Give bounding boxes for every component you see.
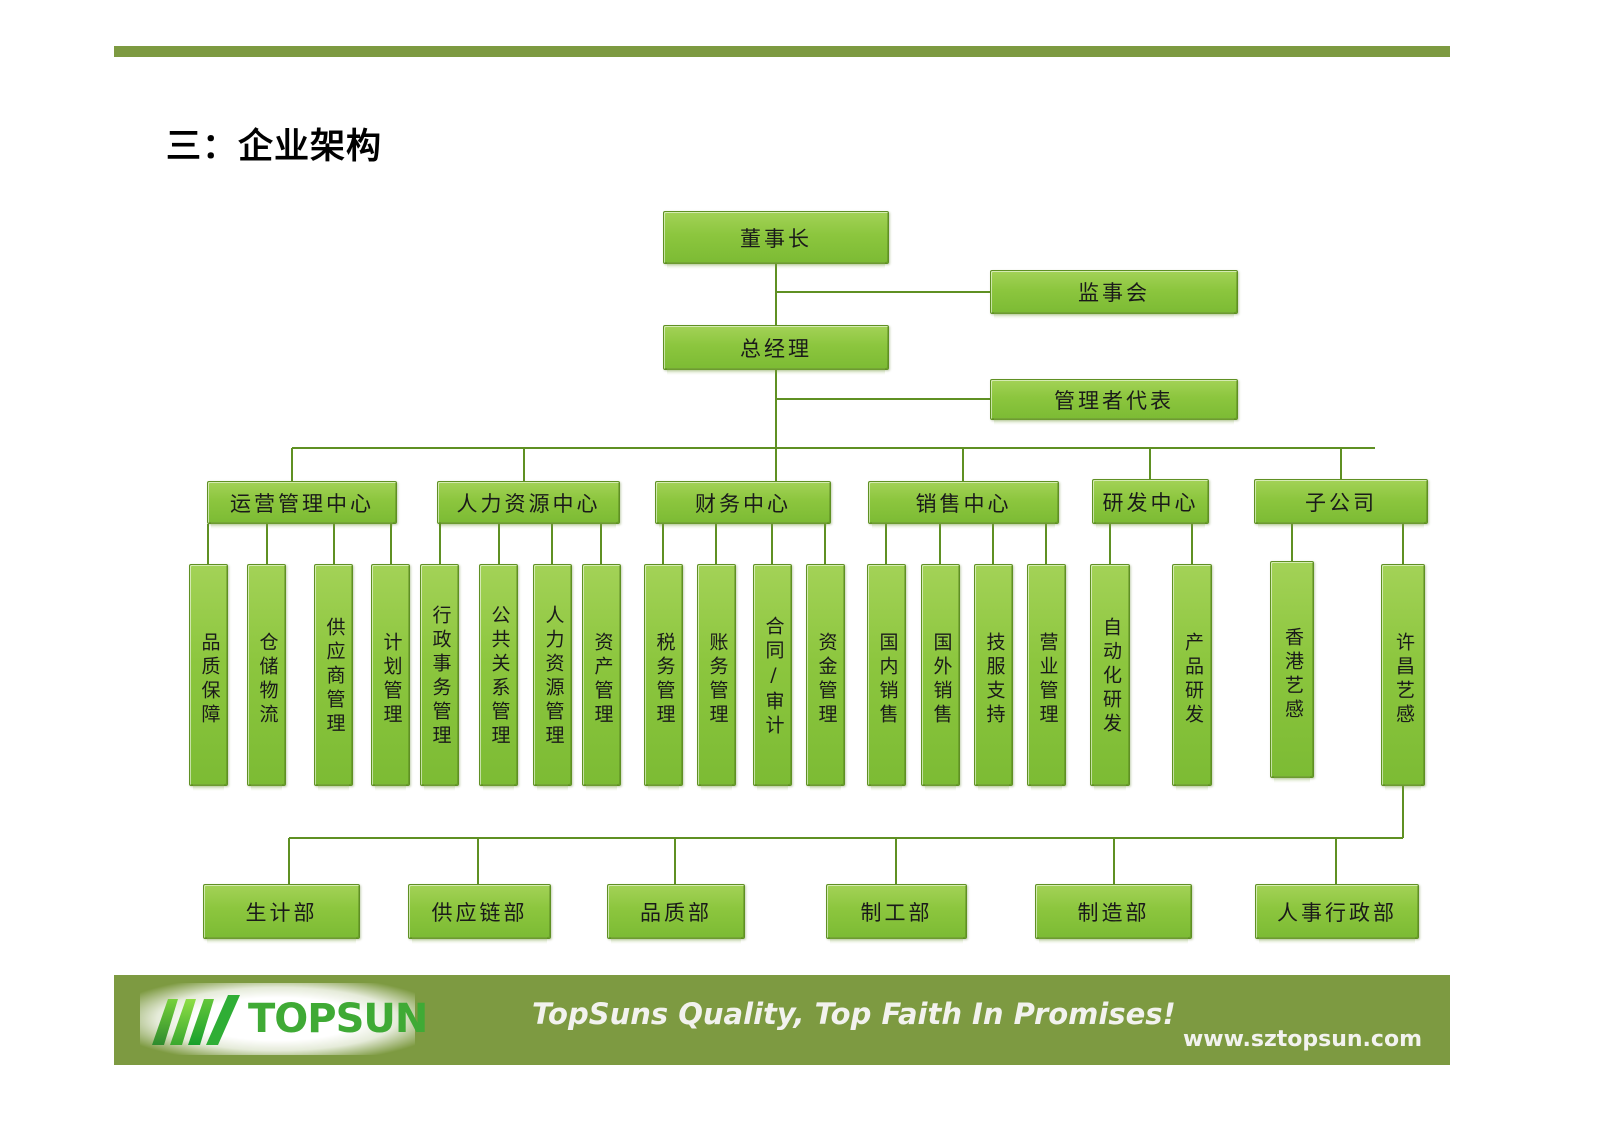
node-dept-technical-support[interactable]: 技服支持: [974, 564, 1013, 786]
node-dept-business-management[interactable]: 营业管理: [1027, 564, 1066, 786]
node-general-manager[interactable]: 总经理: [663, 325, 889, 370]
node-dept-quality-assurance[interactable]: 品质保障: [189, 564, 228, 786]
node-dept-accounting[interactable]: 账务管理: [697, 564, 736, 786]
node-subsidiary-hongkong[interactable]: 香港艺感: [1270, 561, 1314, 778]
footer-website[interactable]: www.sztopsun.com: [1183, 1027, 1422, 1052]
node-dept-contract-audit[interactable]: 合同/审计: [753, 564, 792, 786]
node-dept-funds-management[interactable]: 资金管理: [806, 564, 845, 786]
node-center-rd[interactable]: 研发中心: [1092, 479, 1209, 524]
node-dept-warehouse-logistics[interactable]: 仓储物流: [247, 564, 286, 786]
node-subdept-manufacturing-engineering[interactable]: 制工部: [826, 884, 967, 939]
node-dept-human-resources[interactable]: 人力资源管理: [533, 564, 572, 786]
node-chairman[interactable]: 董事长: [663, 211, 889, 264]
node-subdept-livelihood[interactable]: 生计部: [203, 884, 360, 939]
slide-canvas: 三：企业架构: [0, 0, 1600, 1131]
node-dept-tax-management[interactable]: 税务管理: [644, 564, 683, 786]
node-subdept-supply-chain[interactable]: 供应链部: [408, 884, 551, 939]
node-center-operations[interactable]: 运营管理中心: [207, 481, 397, 524]
company-logo: TOPSUN: [140, 983, 415, 1055]
node-management-representative[interactable]: 管理者代表: [990, 379, 1238, 420]
node-center-sales[interactable]: 销售中心: [868, 481, 1059, 524]
node-dept-plan-management[interactable]: 计划管理: [371, 564, 410, 786]
node-center-finance[interactable]: 财务中心: [655, 481, 831, 524]
node-dept-public-relations[interactable]: 公共关系管理: [479, 564, 518, 786]
node-dept-asset-management[interactable]: 资产管理: [582, 564, 621, 786]
node-subdept-manufacturing[interactable]: 制造部: [1035, 884, 1192, 939]
node-dept-overseas-sales[interactable]: 国外销售: [921, 564, 960, 786]
node-supervisory-board[interactable]: 监事会: [990, 270, 1238, 314]
node-center-hr[interactable]: 人力资源中心: [437, 481, 620, 524]
topsun-logo-icon: [148, 993, 252, 1045]
node-subdept-quality[interactable]: 品质部: [607, 884, 745, 939]
logo-wordmark: TOPSUN: [248, 996, 427, 1042]
node-subsidiary-xuchang[interactable]: 许昌艺感: [1381, 564, 1425, 786]
node-subdept-hr-admin[interactable]: 人事行政部: [1255, 884, 1419, 939]
node-dept-domestic-sales[interactable]: 国内销售: [867, 564, 906, 786]
node-center-subsidiary[interactable]: 子公司: [1254, 479, 1428, 524]
footer-tagline: TopSuns Quality, Top Faith In Promises!: [532, 997, 1176, 1031]
node-dept-product-rd[interactable]: 产品研发: [1172, 564, 1212, 786]
footer-bar: TOPSUN TopSuns Quality, Top Faith In Pro…: [114, 975, 1450, 1065]
node-dept-administration[interactable]: 行政事务管理: [420, 564, 459, 786]
node-dept-automation-rd[interactable]: 自动化研发: [1090, 564, 1130, 786]
node-dept-supplier-management[interactable]: 供应商管理: [314, 564, 353, 786]
